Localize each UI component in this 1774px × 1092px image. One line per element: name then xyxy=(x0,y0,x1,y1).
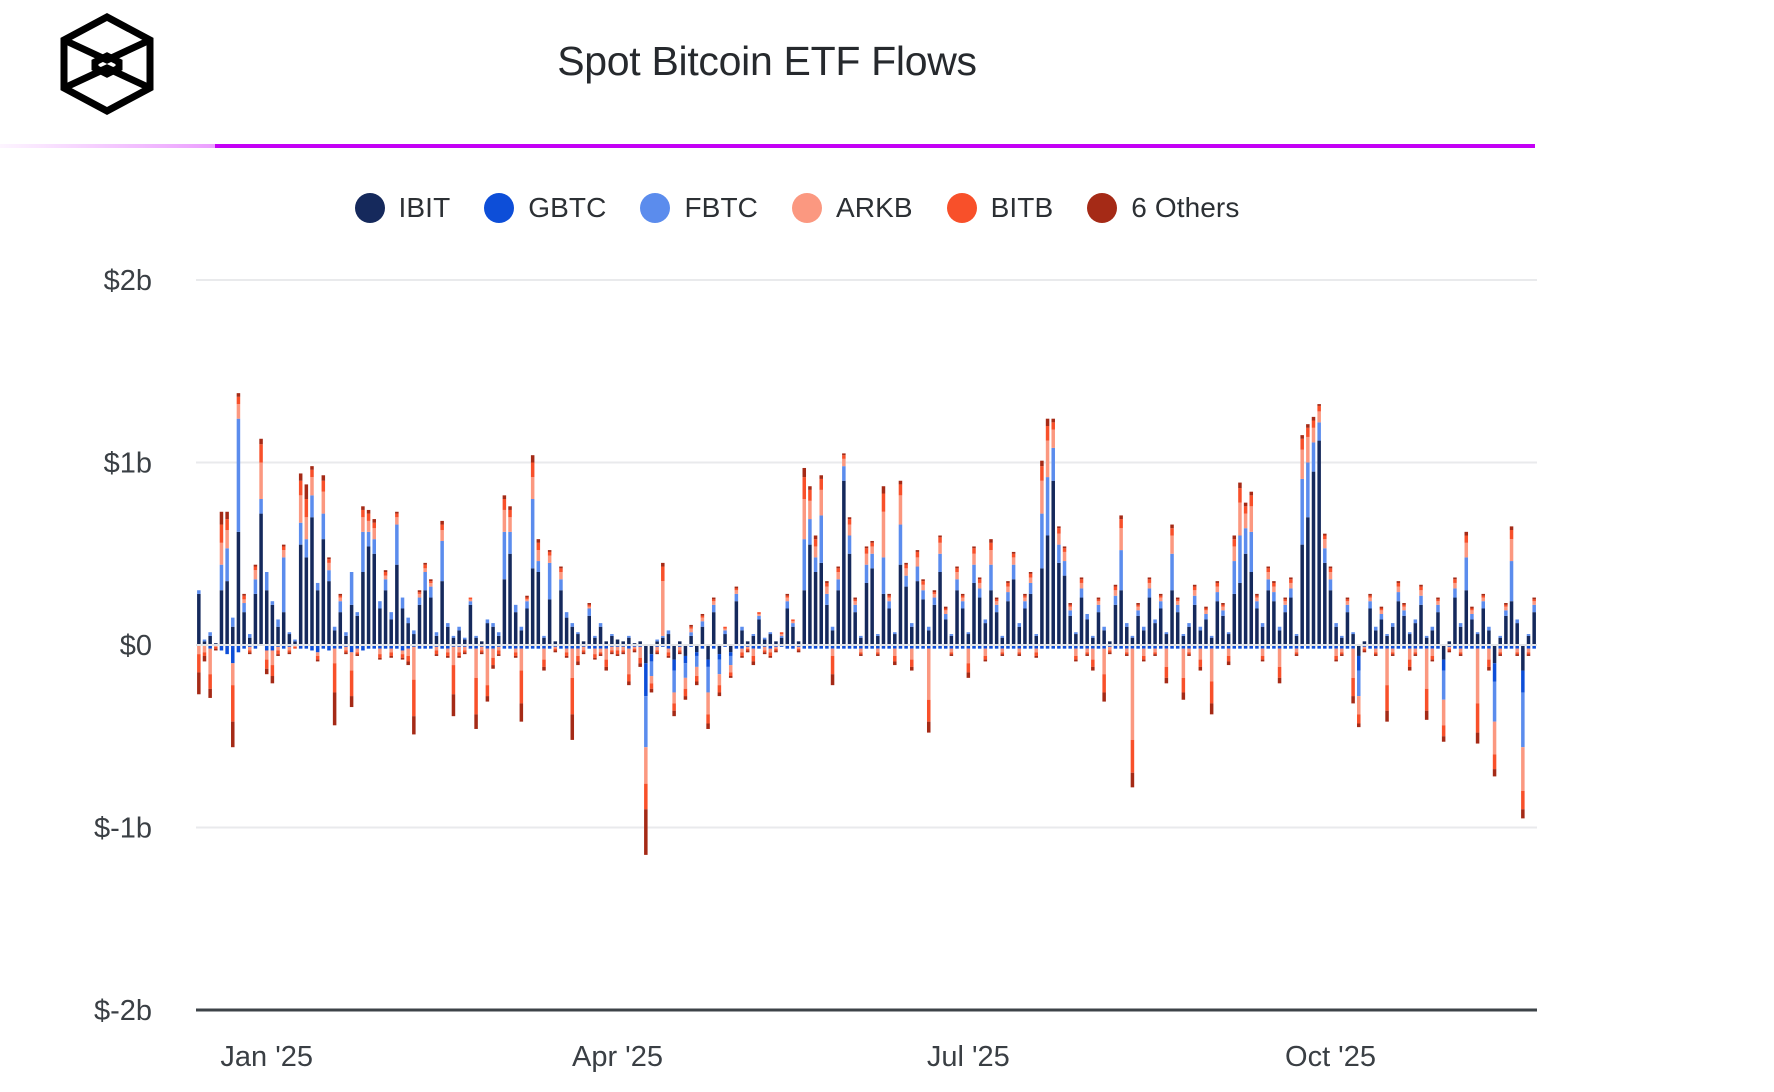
bar-segment xyxy=(548,645,552,649)
bar-segment xyxy=(1448,641,1452,645)
bar-segment xyxy=(944,614,948,619)
bar-segment xyxy=(667,645,671,649)
bar-segment xyxy=(1448,650,1452,652)
bar-segment xyxy=(356,654,360,656)
bar-segment xyxy=(220,543,224,565)
bar-segment xyxy=(305,645,309,649)
bar-segment xyxy=(644,696,648,747)
bar-segment xyxy=(203,656,207,661)
bar-segment xyxy=(197,672,201,694)
bar-segment xyxy=(1510,526,1514,530)
bar-segment xyxy=(378,601,382,608)
bar-segment xyxy=(825,645,829,649)
bar-segment xyxy=(638,663,642,667)
bar-segment xyxy=(480,641,484,645)
bar-segment xyxy=(1068,616,1072,645)
bar-segment xyxy=(672,660,676,671)
bar-segment xyxy=(1029,645,1033,649)
bar-segment xyxy=(1498,649,1502,653)
bar-segment xyxy=(1097,599,1101,601)
bar-segment xyxy=(729,676,733,678)
bar-segment xyxy=(1012,554,1016,558)
bar-segment xyxy=(1391,627,1395,645)
bar-segment xyxy=(1238,583,1242,645)
bar-segment xyxy=(457,627,461,631)
bar-segment xyxy=(576,661,580,665)
bar-segment xyxy=(791,627,795,645)
bar-segment xyxy=(520,649,524,671)
bar-segment xyxy=(305,517,309,539)
bar-segment xyxy=(1527,649,1531,653)
bar-segment xyxy=(1238,503,1242,536)
bar-segment xyxy=(474,638,478,645)
bar-segment xyxy=(1521,791,1525,809)
bar-segment xyxy=(322,475,326,480)
bar-segment xyxy=(1001,649,1005,653)
bar-segment xyxy=(225,548,229,581)
bar-segment xyxy=(1216,587,1220,592)
bar-segment xyxy=(554,641,558,645)
bar-segment xyxy=(1476,733,1480,744)
bar-segment xyxy=(836,567,840,569)
bar-segment xyxy=(446,656,450,658)
bar-segment xyxy=(389,656,393,658)
legend-item-bitb[interactable]: BITB xyxy=(947,192,1054,224)
bar-segment xyxy=(1351,645,1355,649)
bar-segment xyxy=(955,645,959,649)
bar-segment xyxy=(616,640,620,645)
bar-segment xyxy=(774,650,778,652)
bar-segment xyxy=(1108,652,1112,654)
bar-segment xyxy=(1391,623,1395,627)
bar-segment xyxy=(1204,607,1208,609)
bar-segment xyxy=(1182,645,1186,649)
bar-segment xyxy=(1408,645,1412,649)
legend-item-ibit[interactable]: IBIT xyxy=(355,192,451,224)
bar-segment xyxy=(927,645,931,649)
bar-segment xyxy=(271,665,275,676)
bar-segment xyxy=(1142,660,1146,662)
bar-segment xyxy=(1295,636,1299,645)
bar-segment xyxy=(542,660,546,667)
bar-segment xyxy=(1334,656,1338,660)
bar-segment xyxy=(520,645,524,649)
bar-segment xyxy=(1397,592,1401,601)
bar-segment xyxy=(395,512,399,514)
bar-segment xyxy=(1165,667,1169,678)
bar-segment xyxy=(1391,649,1395,653)
bar-segment xyxy=(1481,594,1485,596)
bar-segment xyxy=(984,619,988,623)
bar-segment xyxy=(1385,634,1389,636)
bar-segment xyxy=(1465,536,1469,543)
bar-segment xyxy=(1193,585,1197,587)
bar-segment xyxy=(797,641,801,645)
bar-segment xyxy=(757,614,761,616)
bar-segment xyxy=(1521,809,1525,818)
bar-segment xyxy=(1255,596,1259,598)
bar-segment xyxy=(667,649,671,653)
bar-segment xyxy=(542,645,546,649)
bar-segment xyxy=(1465,543,1469,558)
bar-segment xyxy=(418,592,422,594)
bar-segment xyxy=(989,565,993,591)
bar-segment xyxy=(752,645,756,649)
bar-segment xyxy=(1023,601,1027,608)
bar-segment xyxy=(356,612,360,616)
bar-segment xyxy=(1317,404,1321,406)
bar-segment xyxy=(814,572,818,645)
bar-segment xyxy=(435,636,439,645)
bar-segment xyxy=(769,649,773,653)
bar-segment xyxy=(423,590,427,645)
bar-segment xyxy=(1323,536,1327,540)
bar-segment xyxy=(757,619,761,645)
bar-segment xyxy=(1532,601,1536,605)
bar-segment xyxy=(503,579,507,645)
bar-segment xyxy=(1368,596,1372,598)
bar-segment xyxy=(678,641,682,645)
bar-segment xyxy=(293,645,297,647)
bar-segment xyxy=(967,645,971,649)
bar-segment xyxy=(1040,466,1044,481)
bar-segment xyxy=(305,557,309,645)
bar-segment xyxy=(1176,605,1180,612)
bar-segment xyxy=(474,678,478,715)
bar-segment xyxy=(1080,645,1084,649)
bar-segment xyxy=(333,649,337,664)
bar-segment xyxy=(339,601,343,612)
bar-segment xyxy=(565,656,569,658)
bar-segment xyxy=(1306,645,1310,649)
bar-segment xyxy=(248,638,252,645)
bar-segment xyxy=(1001,654,1005,656)
bar-segment xyxy=(910,645,914,649)
bar-segment xyxy=(1153,619,1157,623)
bar-segment xyxy=(1034,656,1038,658)
bar-segment xyxy=(836,645,840,649)
bar-segment xyxy=(870,645,874,649)
bar-segment xyxy=(1368,645,1372,649)
bar-segment xyxy=(1119,590,1123,645)
bar-segment xyxy=(1108,647,1112,651)
bar-segment xyxy=(1278,667,1282,678)
bar-segment xyxy=(752,661,756,665)
bar-segment xyxy=(378,645,382,649)
bar-segment xyxy=(870,546,874,553)
bar-segment xyxy=(1057,563,1061,645)
bar-segment xyxy=(876,654,880,656)
bar-segment xyxy=(819,563,823,645)
bar-segment xyxy=(480,650,484,652)
bar-segment xyxy=(695,667,699,676)
bar-segment xyxy=(876,652,880,654)
bar-segment xyxy=(1283,599,1287,601)
bar-segment xyxy=(1527,634,1531,636)
bar-segment xyxy=(197,654,201,672)
bar-segment xyxy=(848,517,852,519)
bar-segment xyxy=(695,652,699,656)
bar-segment xyxy=(1170,645,1174,649)
bar-segment xyxy=(1159,598,1163,602)
bar-segment xyxy=(842,466,846,481)
bar-segment xyxy=(248,650,252,652)
bar-segment xyxy=(384,645,388,649)
bar-segment xyxy=(1453,588,1457,597)
bar-segment xyxy=(1199,630,1203,645)
bar-segment xyxy=(1255,645,1259,649)
bar-segment xyxy=(231,685,235,722)
bar-segment xyxy=(678,652,682,654)
bar-segment xyxy=(684,663,688,678)
legend-item-gbtc[interactable]: GBTC xyxy=(484,192,606,224)
bar-segment xyxy=(967,649,971,664)
bar-segment xyxy=(689,632,693,636)
bar-segment xyxy=(1459,645,1463,649)
bar-segment xyxy=(339,612,343,645)
bar-segment xyxy=(1402,603,1406,605)
bar-segment xyxy=(395,525,399,565)
bar-segment xyxy=(1436,605,1440,612)
bar-segment xyxy=(616,654,620,656)
bar-segment xyxy=(650,676,654,683)
bar-segment xyxy=(1385,711,1389,722)
bar-segment xyxy=(322,539,326,645)
bar-segment xyxy=(921,581,925,585)
bar-segment xyxy=(344,647,348,651)
bar-segment xyxy=(899,645,903,649)
bar-segment xyxy=(1221,605,1225,607)
bar-segment xyxy=(921,585,925,590)
bar-segment xyxy=(633,643,637,645)
bar-segment xyxy=(735,590,739,594)
bar-segment xyxy=(237,397,241,404)
bar-segment xyxy=(1051,448,1055,481)
bar-segment xyxy=(1465,590,1469,645)
bar-segment xyxy=(1465,532,1469,536)
bar-segment xyxy=(350,572,354,605)
bar-segment xyxy=(1278,678,1282,683)
bar-segment xyxy=(1312,472,1316,645)
legend-item-fbtc[interactable]: FBTC xyxy=(640,192,758,224)
bar-segment xyxy=(1306,437,1310,463)
bar-segment xyxy=(1340,638,1344,645)
bar-segment xyxy=(989,590,993,645)
bar-segment xyxy=(701,645,705,649)
bar-segment xyxy=(1289,645,1293,649)
bar-segment xyxy=(701,627,705,645)
bar-segment xyxy=(893,649,897,656)
bar-segment xyxy=(1306,517,1310,645)
bar-segment xyxy=(706,660,710,667)
bar-segment xyxy=(667,652,671,656)
bar-segment xyxy=(1453,579,1457,583)
bar-segment xyxy=(231,627,235,645)
bar-segment xyxy=(1289,598,1293,645)
bar-segment xyxy=(299,545,303,645)
bar-segment xyxy=(288,650,292,652)
bar-segment xyxy=(655,640,659,642)
bar-segment xyxy=(1204,609,1208,611)
bar-segment xyxy=(322,645,326,649)
bar-segment xyxy=(406,656,410,661)
bar-segment xyxy=(786,601,790,608)
bar-segment xyxy=(429,579,433,581)
bar-segment xyxy=(463,645,467,647)
bar-segment xyxy=(967,634,971,645)
bar-segment xyxy=(655,652,659,654)
bar-segment xyxy=(712,598,716,600)
bar-segment xyxy=(497,636,501,645)
bar-segment xyxy=(1012,565,1016,580)
bar-segment xyxy=(1317,441,1321,645)
bar-segment xyxy=(955,579,959,590)
bar-segment xyxy=(587,603,591,605)
bar-segment xyxy=(933,594,937,598)
bar-segment xyxy=(859,654,863,656)
bar-segment xyxy=(995,599,999,601)
bar-segment xyxy=(1012,552,1016,554)
legend-item-6-others[interactable]: 6 Others xyxy=(1087,192,1239,224)
bar-segment xyxy=(259,514,263,645)
bar-segment xyxy=(1357,656,1361,671)
bar-segment xyxy=(938,543,942,554)
bar-segment xyxy=(1272,645,1276,649)
bar-segment xyxy=(248,652,252,654)
bar-segment xyxy=(1283,598,1287,600)
bar-segment xyxy=(689,645,693,647)
bar-segment xyxy=(978,577,982,579)
bar-segment xyxy=(1419,587,1423,591)
bar-segment xyxy=(910,667,914,671)
bar-segment xyxy=(1504,607,1508,611)
bar-segment xyxy=(429,583,433,587)
bar-segment xyxy=(463,652,467,654)
bar-segment xyxy=(1380,645,1384,649)
bar-segment xyxy=(299,473,303,480)
bar-segment xyxy=(842,645,846,649)
bar-segment xyxy=(1221,603,1225,605)
bar-segment xyxy=(276,645,280,647)
bar-segment xyxy=(1481,596,1485,598)
bar-segment xyxy=(1063,552,1067,561)
bar-segment xyxy=(1510,530,1514,539)
chart-plot-area: $2b$1b$0$-1b$-2b Jan '25Apr '25Jul '25Oc… xyxy=(0,0,1774,1092)
bar-segment xyxy=(938,537,942,542)
bar-segment xyxy=(1323,539,1327,548)
bar-segment xyxy=(752,634,756,636)
bar-segment xyxy=(1091,636,1095,638)
bar-segment xyxy=(1102,645,1106,649)
bar-segment xyxy=(1051,645,1055,649)
bar-segment xyxy=(1029,572,1033,574)
bar-segment xyxy=(808,545,812,645)
bar-segment xyxy=(531,568,535,645)
bar-segment xyxy=(1136,607,1140,611)
bar-segment xyxy=(1097,605,1101,612)
bar-segment xyxy=(316,583,320,590)
bar-segment xyxy=(1374,630,1378,645)
bar-segment xyxy=(769,632,773,634)
bar-segment xyxy=(1187,654,1191,656)
bar-segment xyxy=(469,645,473,649)
bar-segment xyxy=(491,645,495,649)
bar-segment xyxy=(231,645,235,663)
bar-segment xyxy=(763,647,767,651)
bar-segment xyxy=(1532,598,1536,600)
bar-segment xyxy=(1068,610,1072,615)
bar-segment xyxy=(1295,634,1299,636)
bar-segment xyxy=(1278,645,1282,649)
bar-segment xyxy=(695,682,699,686)
bar-segment xyxy=(271,676,275,683)
bar-segment xyxy=(1351,634,1355,645)
bar-segment xyxy=(961,594,965,596)
bar-segment xyxy=(916,645,920,649)
bar-segment xyxy=(1272,601,1276,645)
bar-segment xyxy=(655,647,659,651)
bar-segment xyxy=(1380,619,1384,645)
bar-segment xyxy=(1476,645,1480,649)
bar-segment xyxy=(1504,603,1508,605)
bar-segment xyxy=(1159,645,1163,649)
bar-segment xyxy=(282,546,286,550)
bar-segment xyxy=(225,581,229,645)
bar-segment xyxy=(1323,563,1327,645)
bar-segment xyxy=(1136,616,1140,645)
bar-segment xyxy=(1238,483,1242,488)
bar-segment xyxy=(1153,654,1157,656)
bar-segment xyxy=(684,645,688,656)
bar-segment xyxy=(208,649,212,675)
legend-item-arkb[interactable]: ARKB xyxy=(792,192,913,224)
bar-segment xyxy=(520,703,524,721)
bar-segment xyxy=(1425,636,1429,638)
bar-segment xyxy=(950,649,954,653)
bar-segment xyxy=(1306,428,1310,437)
bar-segment xyxy=(1255,598,1259,602)
bar-segment xyxy=(1148,588,1152,597)
bar-segment xyxy=(1238,645,1242,649)
bar-segment xyxy=(633,650,637,652)
bar-segment xyxy=(1085,652,1089,654)
bar-segment xyxy=(1142,645,1146,649)
bar-segment xyxy=(1459,627,1463,645)
bar-segment xyxy=(672,711,676,716)
bar-segment xyxy=(916,550,920,552)
bar-segment xyxy=(1046,536,1050,646)
bar-segment xyxy=(1182,649,1186,678)
bar-segment xyxy=(1018,645,1022,649)
bar-segment xyxy=(621,650,625,652)
bar-segment xyxy=(1470,645,1474,649)
bar-segment xyxy=(950,634,954,636)
legend-dot-icon xyxy=(947,193,977,223)
bar-segment xyxy=(938,572,942,645)
bar-segment xyxy=(1023,594,1027,596)
bar-segment xyxy=(548,552,552,556)
bar-segment xyxy=(1431,645,1435,649)
bar-segment xyxy=(1074,660,1078,662)
bar-segment xyxy=(214,643,218,645)
bar-segment xyxy=(503,510,507,532)
bar-segment xyxy=(276,650,280,654)
bar-segment xyxy=(350,605,354,645)
bar-segment xyxy=(1199,667,1203,671)
bar-segment xyxy=(1018,623,1022,627)
bar-segment xyxy=(1227,632,1231,634)
bar-segment xyxy=(1187,623,1191,627)
